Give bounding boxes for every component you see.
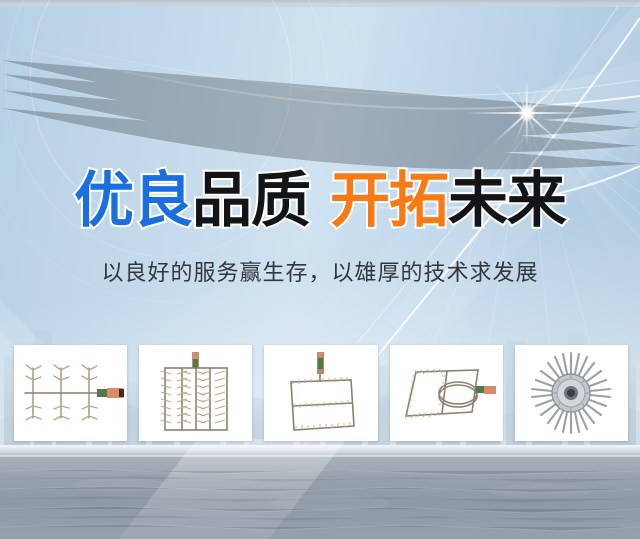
ground-surface bbox=[0, 445, 640, 539]
promo-banner: 优良品质 开拓未来 以良好的服务赢生存，以雄厚的技术求发展 bbox=[0, 0, 640, 539]
product-card-row bbox=[14, 345, 628, 441]
product-card-multi-branch-rack[interactable] bbox=[14, 345, 127, 441]
headline-gap bbox=[310, 166, 330, 236]
headline: 优良品质 开拓未来 bbox=[0, 166, 640, 236]
subtitle: 以良好的服务赢生存，以雄厚的技术求发展 bbox=[0, 258, 640, 290]
headline-part-4: 未来 bbox=[448, 166, 566, 236]
headline-part-2: 品质 bbox=[192, 166, 310, 236]
headline-part-3: 开拓 bbox=[330, 166, 448, 236]
branched-arm-fixture-icon bbox=[17, 352, 125, 434]
frame-with-ring-fixture-icon bbox=[394, 358, 498, 428]
ground-texture bbox=[0, 445, 640, 539]
product-card-flat-frame-rack[interactable] bbox=[264, 345, 377, 441]
sunburst-disc-fixture-icon bbox=[528, 350, 614, 436]
comb-tooth-rack-fixture-icon bbox=[151, 350, 241, 436]
headline-part-1: 优良 bbox=[74, 166, 192, 236]
rectangular-frame-fixture-icon bbox=[275, 350, 367, 436]
product-card-radial-star-rack[interactable] bbox=[515, 345, 628, 441]
product-card-double-comb-rack[interactable] bbox=[139, 345, 252, 441]
product-card-ring-frame-rack[interactable] bbox=[390, 345, 503, 441]
